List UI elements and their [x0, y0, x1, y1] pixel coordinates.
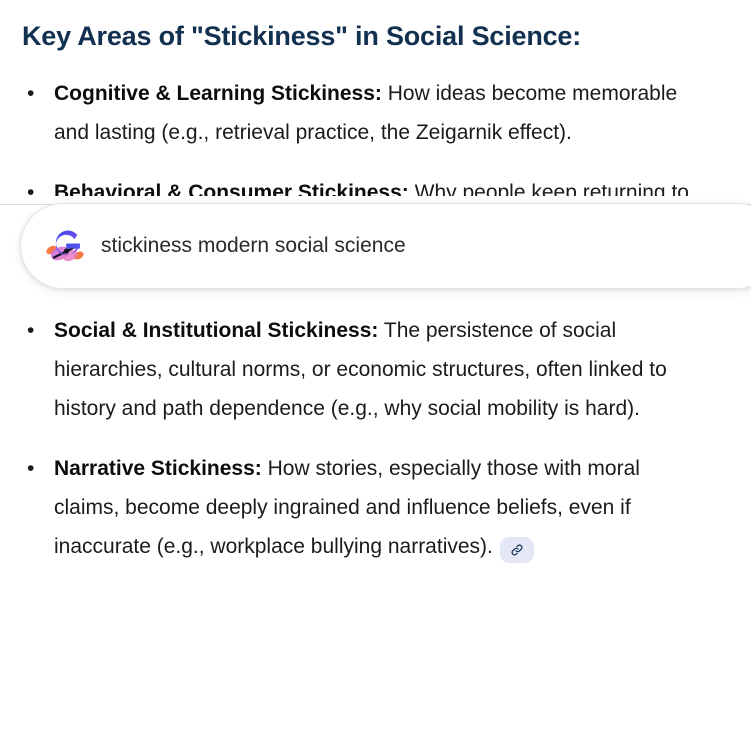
- bullet-marker: •: [27, 74, 37, 113]
- search-bar[interactable]: stickiness modern social science: [20, 203, 751, 289]
- search-overlay: stickiness modern social science: [0, 196, 751, 300]
- list-item-lead-in: Cognitive & Learning Stickiness:: [54, 82, 382, 105]
- page-title: Key Areas of "Stickiness" in Social Scie…: [22, 16, 582, 56]
- list-item-lead-in: Narrative Stickiness:: [54, 457, 262, 480]
- search-query-text[interactable]: stickiness modern social science: [101, 233, 406, 259]
- list-item: • Narrative Stickiness: How stories, esp…: [22, 449, 690, 566]
- list-item: • Cognitive & Learning Stickiness: How i…: [22, 74, 690, 152]
- gemini-search-icon: [43, 224, 87, 268]
- list-item: • Social & Institutional Stickiness: The…: [22, 311, 690, 428]
- bullet-marker: •: [27, 449, 37, 488]
- link-icon: [509, 542, 525, 558]
- key-areas-list: • Cognitive & Learning Stickiness: How i…: [22, 74, 729, 566]
- bullet-marker: •: [27, 311, 37, 350]
- search-result-page: Key Areas of "Stickiness" in Social Scie…: [0, 0, 751, 753]
- list-item-lead-in: Social & Institutional Stickiness:: [54, 319, 378, 342]
- citation-link-chip[interactable]: [500, 537, 534, 563]
